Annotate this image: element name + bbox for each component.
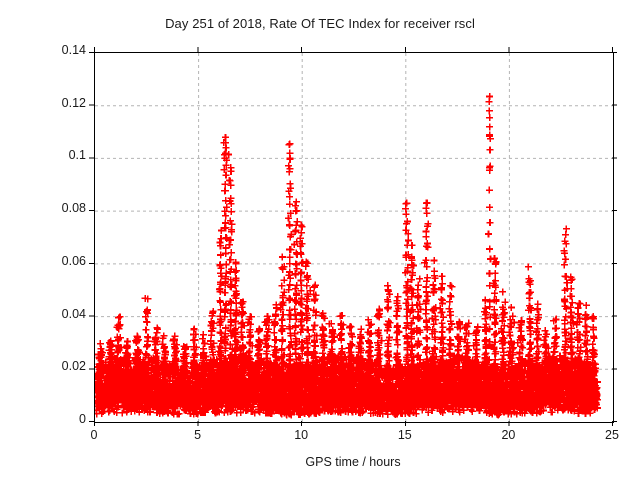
x-tick-label: 5 [168, 428, 228, 442]
x-axis-label: GPS time / hours [94, 455, 612, 469]
x-tick-label: 10 [271, 428, 331, 442]
chart-page: Day 251 of 2018, Rate Of TEC Index for r… [0, 0, 640, 480]
y-axis-tick-labels: 00.020.040.060.080.10.120.14 [0, 52, 86, 421]
plot-area [94, 52, 614, 423]
y-tick-label: 0.06 [6, 254, 86, 268]
y-tick-label: 0.1 [6, 148, 86, 162]
x-tick-label: 20 [478, 428, 538, 442]
x-tick-label: 25 [582, 428, 640, 442]
x-axis-tick-labels: 0510152025 [0, 428, 640, 448]
y-tick-label: 0.04 [6, 307, 86, 321]
x-tick-label: 15 [375, 428, 435, 442]
y-tick-label: 0.12 [6, 96, 86, 110]
y-tick-label: 0.08 [6, 201, 86, 215]
x-tick-label: 0 [64, 428, 124, 442]
y-tick-label: 0.14 [6, 43, 86, 57]
chart-title: Day 251 of 2018, Rate Of TEC Index for r… [0, 16, 640, 31]
data-points-layer [95, 53, 613, 422]
y-tick-label: 0 [6, 412, 86, 426]
scatter-markers [95, 93, 601, 418]
y-tick-label: 0.02 [6, 359, 86, 373]
